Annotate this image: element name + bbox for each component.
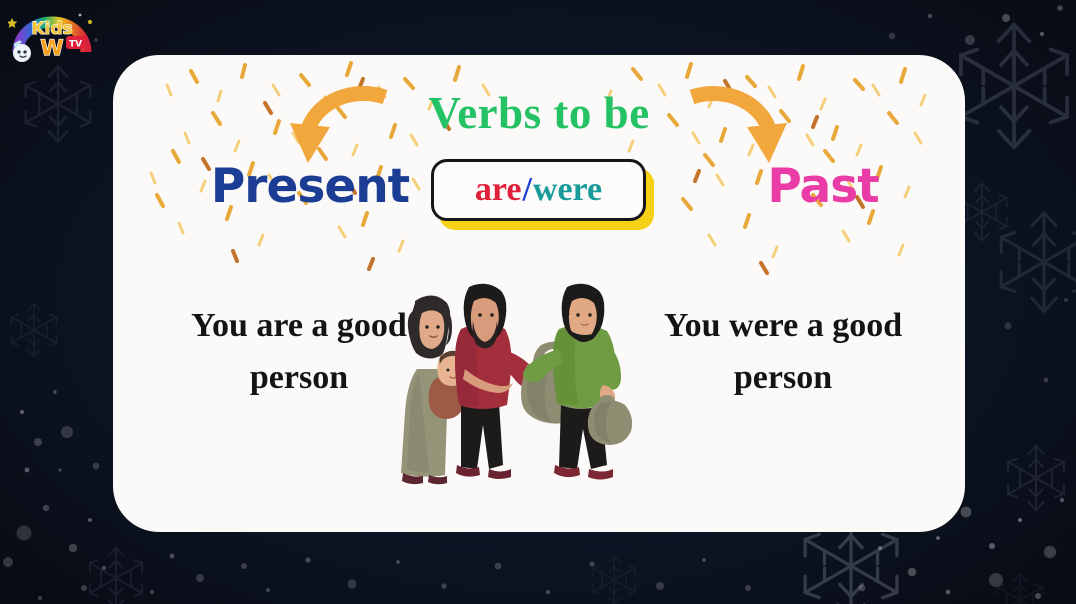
logo-w-text: W	[40, 36, 63, 60]
past-label: Past	[698, 163, 948, 210]
chip-were-text: were	[533, 173, 602, 207]
kids-w-tv-logo[interactable]: Kids W TV	[8, 8, 96, 62]
slide-stage: Kids W TV	[0, 0, 1076, 604]
page-title: Verbs to be	[113, 91, 965, 136]
present-label: Present	[185, 163, 435, 210]
green-sweater-figure	[523, 284, 621, 480]
chip-slash-text: /	[521, 173, 532, 207]
lesson-card: Verbs to be Present are / were Past You …	[113, 55, 965, 532]
logo-tv-text: TV	[69, 39, 82, 49]
chip-body: are / were	[431, 159, 646, 221]
family-receiving-donation-illustration	[395, 283, 640, 503]
chip-are-text: are	[475, 173, 522, 207]
are-were-chip[interactable]: are / were	[431, 159, 646, 221]
past-example-sentence: You were a good person	[633, 300, 933, 403]
